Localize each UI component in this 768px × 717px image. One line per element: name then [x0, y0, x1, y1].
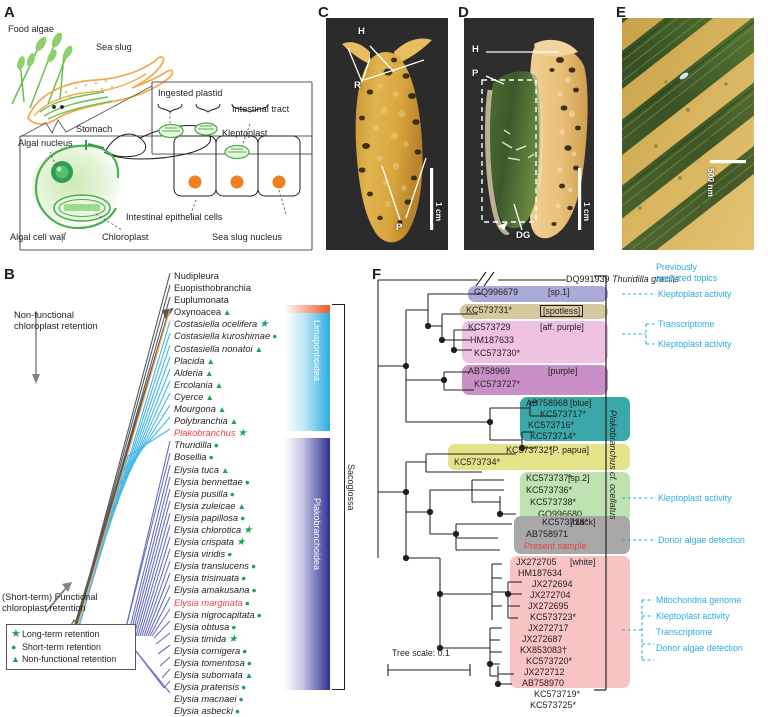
taxon-row: Elysia timida★ [174, 633, 277, 645]
taxon-name: Euplumonata [174, 295, 229, 305]
topic-connectors [622, 294, 656, 660]
nonfunctional-retention-icon: ▲ [230, 416, 238, 426]
taxon-name: Nudipleura [174, 271, 219, 281]
label-algal-cell-wall: Algal cell wall [10, 232, 65, 242]
accession-label: KC573725* [530, 700, 576, 710]
support-nodes [403, 323, 525, 687]
nonfunctional-retention-icon: ▲ [215, 380, 223, 390]
legend-label: Non-functional retention [22, 654, 116, 664]
panel-c-label-p: P [396, 222, 402, 233]
taxon-row: Nudipleura [174, 270, 277, 282]
taxon-row: Elysia translucens● [174, 560, 277, 572]
topics-header-line1: Previously [656, 262, 717, 273]
panel-c-label-h: H [358, 26, 365, 37]
long-term-retention-icon: ★ [238, 427, 247, 439]
taxon-row: Elysia macnaei● [174, 693, 277, 705]
annotation-nf-line2: chloroplast retention [14, 321, 130, 332]
long-term-retention-icon: ★ [243, 524, 252, 536]
sea-slug-nuclei [189, 176, 286, 189]
taxon-row: Elysia cornigera● [174, 645, 277, 657]
legend-label: Long-term retention [22, 629, 99, 639]
taxon-row: Bosellia● [174, 451, 277, 463]
topic-label: Transcriptome [658, 319, 714, 330]
taxon-name: Elysia papillosa [174, 513, 238, 523]
short-term-retention-icon: ● [245, 477, 250, 487]
taxon-row: Ercolania▲ [174, 379, 277, 391]
panel-f-phylogeny: F [sp.1]GQ996679[spotless]KC573731*[aff.… [370, 262, 768, 696]
panel-d-label-dg: DG [516, 230, 530, 241]
taxon-row: Elysia pusilla● [174, 488, 277, 500]
nonfunctional-retention-icon: ▲ [218, 404, 226, 414]
taxon-row: Oxynoacea▲ [174, 306, 277, 318]
short-term-retention-icon: ● [247, 658, 252, 668]
taxon-row: Polybranchia▲ [174, 415, 277, 427]
taxon-name: Elysia cornigera [174, 646, 240, 656]
panel-e-image: 500 nm [622, 18, 754, 250]
taxon-name: Euopisthobranchia [174, 283, 251, 293]
taxon-name: Elysia obtusa [174, 622, 229, 632]
algae-leaflets [16, 31, 75, 71]
short-term-retention-icon: ● [231, 622, 236, 632]
outgroup-accession: DQ991939 [566, 274, 610, 284]
short-term-retention-icon: ● [214, 440, 219, 450]
taxon-row: Costasiella ocelifera★ [174, 318, 277, 330]
panel-c-photo-wrap: C [316, 0, 456, 258]
taxon-name: Costasiella nonatoi [174, 344, 253, 354]
short-term-retention-icon: ● [230, 489, 235, 499]
taxon-name: Elysia zuleicae [174, 501, 236, 511]
taxon-name: Elysia translucens [174, 561, 249, 571]
topics-header: Previously analyzed topics [656, 262, 717, 283]
taxon-name: Polybranchia [174, 416, 228, 426]
taxon-name: Mourgona [174, 404, 216, 414]
panel-d-photo-wrap: D [456, 0, 602, 258]
taxon-name: Elysia crispata [174, 537, 234, 547]
slug-eyespots [52, 105, 64, 109]
taxon-row: Elysia amakusana● [174, 584, 277, 596]
taxon-name: Elysia amakusana [174, 585, 249, 595]
label-stomach: Stomach [76, 124, 112, 134]
taxon-name: Elysia bennettae [174, 477, 243, 487]
long-term-retention-icon: ★ [236, 536, 245, 548]
taxon-row: Elysia trisinuata● [174, 572, 277, 584]
panel-e-thylakoid-micrograph [622, 18, 754, 250]
short-term-retention-icon: ● [245, 598, 250, 608]
long-term-retention-icon: ★ [259, 318, 268, 330]
gut-tube-lower [104, 134, 210, 159]
taxon-name: Elysia pusilla [174, 489, 228, 499]
taxon-row: Elysia viridis● [174, 548, 277, 560]
taxon-row: Elysia crispata★ [174, 536, 277, 548]
taxon-row: Costasiella kuroshimae● [174, 330, 277, 342]
label-ingested-plastid: Ingested plastid [158, 88, 222, 98]
panel-b-phylogeny: B Limapontioidea Plakobranchoidea Sacogl… [0, 262, 368, 696]
legend-row: ★Long-term retention [11, 628, 130, 641]
taxon-row: Plakobranchus★ [174, 427, 277, 439]
plakobranchus-bracket [594, 276, 606, 690]
taxon-name: Elysia subornata [174, 670, 243, 680]
panel-d-image: H P DG 1 cm [464, 18, 594, 250]
label-intestinal-tract: Intestinal tract [232, 104, 289, 114]
legend-symbol-icon: ▲ [11, 653, 22, 666]
taxon-name: Elysia tomentosa [174, 658, 245, 668]
taxon-row: Mourgona▲ [174, 403, 277, 415]
taxon-row: Elysia papillosa● [174, 512, 277, 524]
topic-label: Donor algae detection [656, 643, 743, 654]
short-term-retention-icon: ● [209, 452, 214, 462]
taxon-name: Elysia viridis [174, 549, 225, 559]
label-chloroplast: Chloroplast [102, 232, 148, 242]
panel-c-slug-photo [326, 18, 448, 250]
taxon-row: Elysia subornata▲ [174, 669, 277, 681]
brace-ingested-plastid-left [158, 104, 182, 112]
panel-e-photo-wrap: E [604, 0, 768, 258]
panel-d-slug-opened-photo [464, 18, 594, 250]
topics-header-line2: analyzed topics [656, 273, 717, 284]
nonfunctional-retention-icon: ▲ [223, 307, 231, 317]
topic-label: Kleptoplast activity [658, 493, 732, 504]
taxon-row: Elysia chlorotica★ [174, 524, 277, 536]
plakobranchus-bracket-label: Plakobranchus cf. ocellatus [608, 410, 618, 560]
taxon-name: Elysia tuca [174, 465, 219, 475]
label-intestinal-epithelial-cells: Intestinal epithelial cells [126, 212, 223, 222]
long-term-retention-icon: ★ [228, 633, 237, 645]
label-food-algae: Food algae [8, 24, 54, 34]
panel-b-taxa-list: NudipleuraEuopisthobranchiaEuplumonataOx… [174, 270, 277, 717]
topic-label: Donor algae detection [658, 535, 745, 546]
nonfunctional-retention-icon: ▲ [238, 501, 246, 511]
annotation-functional-retention: (Short-term) Functional chloroplast rete… [2, 592, 152, 615]
taxon-name: Elysia marginata [174, 598, 243, 608]
nonfunctional-retention-icon: ▲ [221, 465, 229, 475]
ingested-plastid-2 [195, 123, 217, 135]
label-algal-nucleus: Algal nucleus [18, 138, 73, 148]
ingested-plastid-1 [159, 125, 183, 138]
short-term-retention-icon: ● [257, 610, 262, 620]
legend-label: Short-term retention [22, 642, 101, 652]
nonfunctional-retention-icon: ▲ [205, 392, 213, 402]
topic-label: Kleptoplast activity [658, 289, 732, 300]
taxon-row: Elysia nigrocapitata● [174, 609, 277, 621]
taxon-name: Oxynoacea [174, 307, 221, 317]
panel-d-label-p: P [472, 68, 478, 79]
legend-symbol-icon: ★ [11, 628, 22, 641]
short-term-retention-icon: ● [227, 549, 232, 559]
taxon-name: Elysia asbecki [174, 706, 233, 716]
tree-scale-label: Tree scale: 0.1 [392, 648, 450, 658]
nonfunctional-retention-icon: ▲ [205, 368, 213, 378]
taxon-row: Elysia marginata● [174, 597, 277, 609]
kleptoplast-in-cell [225, 146, 249, 159]
taxon-name: Costasiella ocelifera [174, 319, 257, 329]
short-term-retention-icon: ● [242, 646, 247, 656]
taxon-row: Placida▲ [174, 355, 277, 367]
topic-label: Mitochondria genome [656, 595, 741, 606]
taxon-row: Elysia bennettae● [174, 476, 277, 488]
topic-label: Transcriptome [656, 627, 712, 638]
taxon-name: Elysia nigrocapitata [174, 610, 255, 620]
taxon-row: Alderia▲ [174, 367, 277, 379]
nonfunctional-retention-icon: ▲ [245, 670, 253, 680]
legend-row: ●Short-term retention [11, 641, 130, 654]
taxon-row: Elysia asbecki● [174, 705, 277, 717]
legend-row: ▲Non-functional retention [11, 653, 130, 666]
taxon-name: Alderia [174, 368, 203, 378]
tree-scale-bar [388, 664, 470, 676]
panel-d-label-h: H [472, 44, 479, 55]
zoom-leader-left [20, 123, 46, 137]
short-term-retention-icon: ● [235, 706, 240, 716]
taxon-name: Cyerce [174, 392, 203, 402]
panel-e-scale-label: 500 nm [706, 168, 716, 197]
annotation-f-line2: chloroplast retention [2, 603, 152, 614]
label-sea-slug: Sea slug [96, 42, 132, 52]
short-term-retention-icon: ● [240, 513, 245, 523]
taxon-name: Elysia chlorotica [174, 525, 241, 535]
annotation-nonfunctional-retention: Non-functional chloroplast retention [14, 310, 130, 333]
taxon-row: Elysia obtusa● [174, 621, 277, 633]
algal-nucleus [51, 161, 73, 183]
short-term-retention-icon: ● [241, 573, 246, 583]
label-kleptoplast: Kleptoplast [222, 128, 267, 138]
taxon-row: Elysia tuca▲ [174, 464, 277, 476]
panel-a-schematic: A [0, 0, 318, 258]
taxon-row: Cyerce▲ [174, 391, 277, 403]
taxon-name: Plakobranchus [174, 428, 236, 438]
taxon-name: Placida [174, 356, 205, 366]
nonfunctional-retention-icon: ▲ [207, 356, 215, 366]
taxon-row: Euplumonata [174, 294, 277, 306]
taxon-row: Elysia tomentosa● [174, 657, 277, 669]
taxon-row: Costasiella nonatoi▲ [174, 343, 277, 355]
taxon-name: Ercolania [174, 380, 213, 390]
legend-symbol-icon: ● [11, 641, 22, 654]
panel-c-label-r: R [354, 80, 361, 91]
taxon-row: Elysia zuleicae▲ [174, 500, 277, 512]
panel-b-legend: ★Long-term retention●Short-term retentio… [6, 624, 136, 670]
panel-c-image: H R P 1 cm [326, 18, 448, 250]
nonfunctional-retention-icon: ▲ [255, 344, 263, 354]
short-term-retention-icon: ● [251, 585, 256, 595]
panel-d-scale-label: 1 cm [582, 202, 592, 221]
panel-c-scale-label: 1 cm [434, 202, 444, 221]
topic-label: Kleptoplast activity [656, 611, 730, 622]
annotation-f-line1: (Short-term) Functional [2, 592, 152, 603]
taxon-name: Costasiella kuroshimae [174, 331, 270, 341]
taxon-name: Elysia pratensis [174, 682, 239, 692]
short-term-retention-icon: ● [272, 331, 277, 341]
brace-ingested-plastid-right [196, 104, 220, 112]
short-term-retention-icon: ● [241, 682, 246, 692]
taxon-name: Thuridilla [174, 440, 212, 450]
taxon-row: Euopisthobranchia [174, 282, 277, 294]
taxon-row: Elysia pratensis● [174, 681, 277, 693]
stomach-outline [106, 134, 146, 157]
topic-label: Kleptoplast activity [658, 339, 732, 350]
label-sea-slug-nucleus: Sea slug nucleus [212, 232, 282, 242]
short-term-retention-icon: ● [251, 561, 256, 571]
taxon-row: Thuridilla● [174, 439, 277, 451]
taxon-name: Elysia timida [174, 634, 226, 644]
annotation-nf-line1: Non-functional [14, 310, 130, 321]
taxon-name: Elysia trisinuata [174, 573, 239, 583]
taxon-name: Bosellia [174, 452, 207, 462]
